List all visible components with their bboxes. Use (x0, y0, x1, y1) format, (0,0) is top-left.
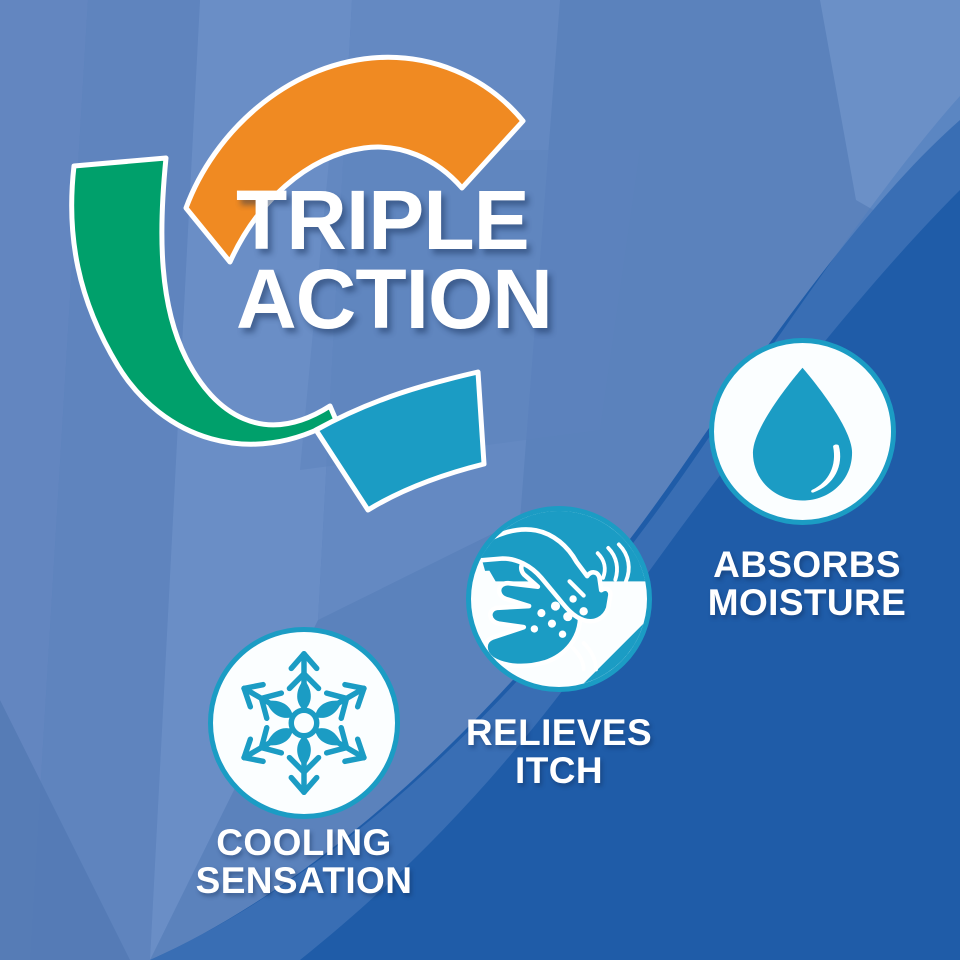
triple-action-promo-graphic: TRIPLE ACTION ABSORBS MOISTURE (0, 0, 960, 960)
scratching-hands-icon (471, 511, 647, 687)
scratching-hands-badge (466, 506, 652, 692)
snowflake-center (291, 710, 316, 735)
droplet-body (753, 368, 852, 501)
snowflake-badge (208, 627, 400, 819)
headline-line-2: ACTION (236, 260, 856, 339)
water-droplet-icon (714, 343, 891, 520)
arc-cyan (316, 372, 484, 510)
caption-absorbs-moisture: ABSORBS MOISTURE (642, 546, 960, 623)
caption-relieves-itch: RELIEVES ITCH (399, 714, 719, 791)
headline: TRIPLE ACTION (236, 181, 856, 339)
motion-lines-bottom (573, 643, 596, 669)
snowflake-icon (213, 632, 395, 814)
caption-cooling-sensation: COOLING SENSATION (144, 824, 464, 901)
water-droplet-badge (709, 338, 896, 525)
